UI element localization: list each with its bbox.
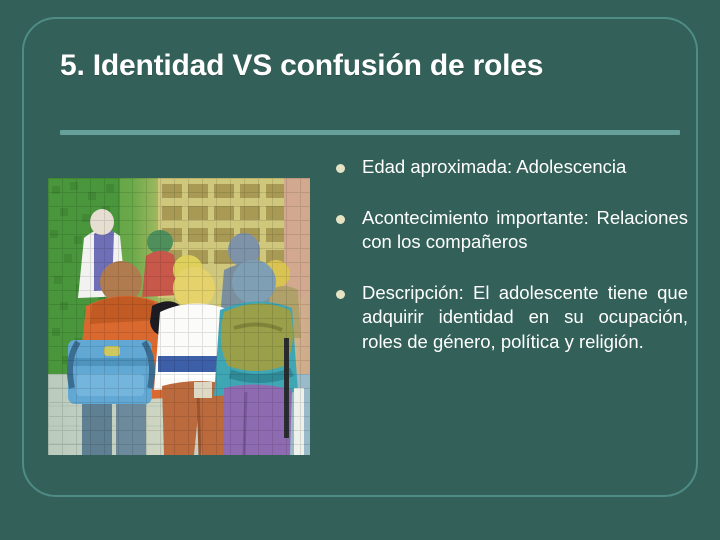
presentation-slide: 5. Identidad VS confusión de roles <box>0 0 720 540</box>
bullet-dot-icon <box>336 290 345 299</box>
bullet-text-age: Edad aproximada: Adolescencia <box>362 155 688 180</box>
bullet-text-description: Descripción: El adolescente tiene que ad… <box>362 281 688 355</box>
list-item: Acontecimiento importante: Relaciones co… <box>336 206 688 255</box>
bullet-list: Edad aproximada: Adolescencia Acontecimi… <box>336 155 688 355</box>
teenagers-with-backpacks-illustration <box>48 178 310 455</box>
page-title: 5. Identidad VS confusión de roles <box>60 48 600 83</box>
list-item: Edad aproximada: Adolescencia <box>336 155 688 180</box>
bullet-text-event: Acontecimiento importante: Relaciones co… <box>362 206 688 255</box>
bullet-dot-icon <box>336 215 345 224</box>
title-underline-rule <box>60 130 680 135</box>
illustration-graphic <box>48 178 310 455</box>
title-block: 5. Identidad VS confusión de roles <box>60 48 600 83</box>
bullet-dot-icon <box>336 164 345 173</box>
list-item: Descripción: El adolescente tiene que ad… <box>336 281 688 355</box>
